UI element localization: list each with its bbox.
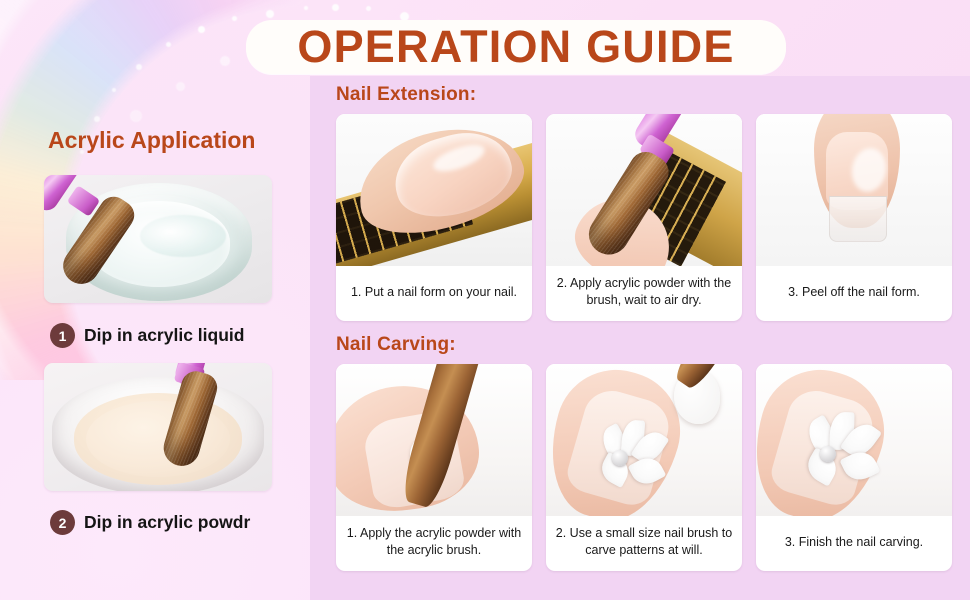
card-carving-3: 3. Finish the nail carving.: [756, 364, 952, 571]
acrylic-liquid-photo: [44, 175, 272, 303]
step-badge-1: 1: [50, 323, 75, 348]
step-row-2: 2 Dip in acrylic powdr: [50, 510, 250, 535]
caption-carving-1: 1. Apply the acrylic powder with the acr…: [336, 516, 532, 571]
step-badge-2: 2: [50, 510, 75, 535]
caption-extension-3: 3. Peel off the nail form.: [756, 266, 952, 321]
caption-carving-3: 3. Finish the nail carving.: [756, 516, 952, 571]
card-extension-2: 2. Apply acrylic powder with the brush, …: [546, 114, 742, 321]
caption-extension-1: 1. Put a nail form on your nail.: [336, 266, 532, 321]
step-row-1: 1 Dip in acrylic liquid: [50, 323, 244, 348]
photo-extension-1: [336, 114, 532, 266]
nail-extension-heading: Nail Extension:: [336, 84, 476, 106]
photo-carving-3: [756, 364, 952, 516]
step-label-1: Dip in acrylic liquid: [84, 325, 244, 346]
card-carving-1: 1. Apply the acrylic powder with the acr…: [336, 364, 532, 571]
nail-carving-heading: Nail Carving:: [336, 334, 456, 356]
photo-carving-1: [336, 364, 532, 516]
card-carving-2: 2. Use a small size nail brush to carve …: [546, 364, 742, 571]
photo-extension-3: [756, 114, 952, 266]
caption-extension-2: 2. Apply acrylic powder with the brush, …: [546, 266, 742, 321]
acrylic-application-title: Acrylic Application: [48, 127, 255, 154]
step-label-2: Dip in acrylic powdr: [84, 512, 250, 533]
page-title: OPERATION GUIDE: [246, 16, 786, 78]
operation-guide-poster: OPERATION GUIDE Acrylic Application 1 Di…: [0, 0, 970, 600]
acrylic-powder-photo: [44, 363, 272, 491]
card-extension-3: 3. Peel off the nail form.: [756, 114, 952, 321]
caption-carving-2: 2. Use a small size nail brush to carve …: [546, 516, 742, 571]
card-extension-1: 1. Put a nail form on your nail.: [336, 114, 532, 321]
photo-carving-2: [546, 364, 742, 516]
photo-extension-2: [546, 114, 742, 266]
instructions-panel: Nail Extension: 1. Put a nail form on yo…: [310, 76, 970, 600]
